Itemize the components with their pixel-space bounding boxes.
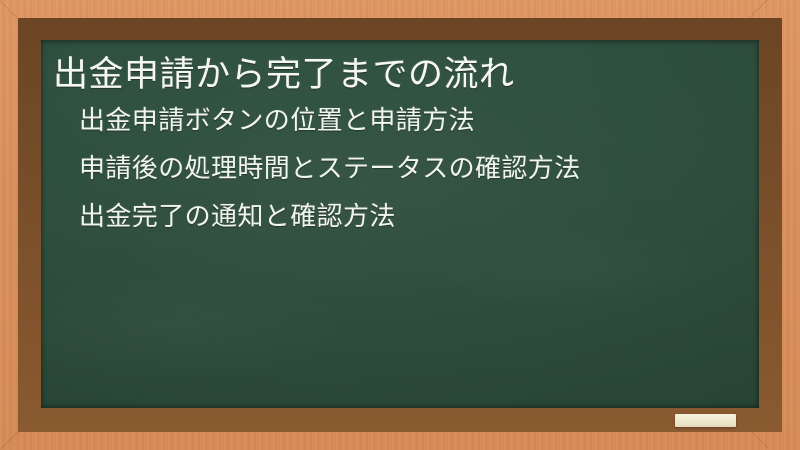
blackboard-wooden-frame: 出金申請から完了までの流れ 出金申請ボタンの位置と申請方法 申請後の処理時間とス… [0, 0, 800, 450]
board-title: 出金申請から完了までの流れ [53, 54, 741, 95]
list-item: 出金申請ボタンの位置と申請方法 [79, 107, 741, 133]
chalkboard-surface: 出金申請から完了までの流れ 出金申請ボタンの位置と申請方法 申請後の処理時間とス… [41, 40, 759, 408]
chalk-stick-icon [675, 414, 736, 427]
list-item: 出金完了の通知と確認方法 [79, 203, 741, 229]
board-inner-bevel: 出金申請から完了までの流れ 出金申請ボタンの位置と申請方法 申請後の処理時間とス… [18, 18, 782, 432]
board-topic-list: 出金申請ボタンの位置と申請方法 申請後の処理時間とステータスの確認方法 出金完了… [53, 107, 741, 229]
board-content: 出金申請から完了までの流れ 出金申請ボタンの位置と申請方法 申請後の処理時間とス… [41, 40, 759, 408]
list-item: 申請後の処理時間とステータスの確認方法 [79, 155, 741, 181]
